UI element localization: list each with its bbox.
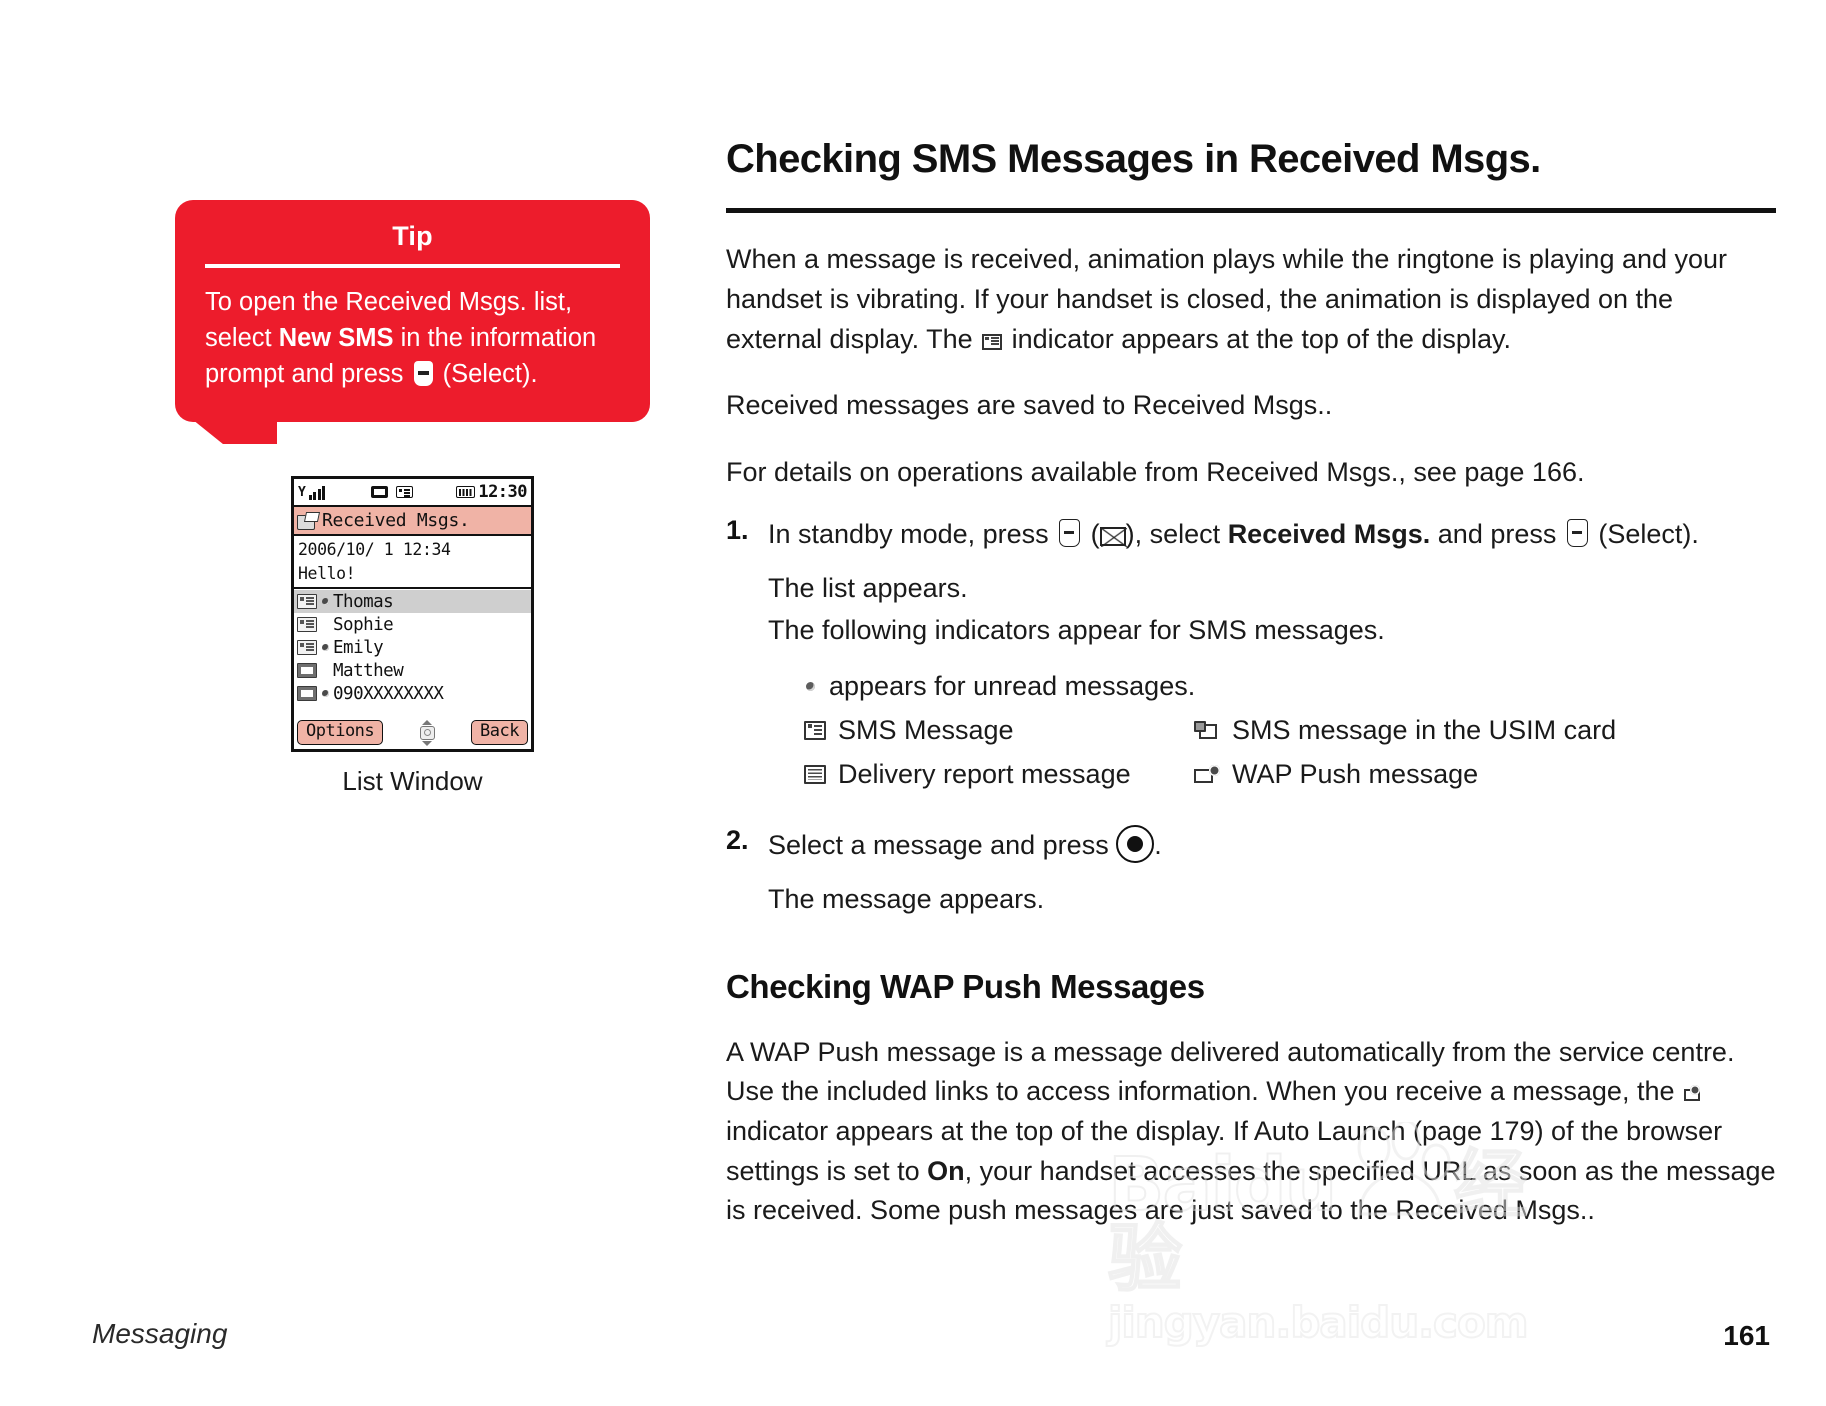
phone-message-meta: 2006/10/ 1 12:34 Hello!: [294, 536, 531, 589]
wap-text-a: A WAP Push message is a message delivere…: [726, 1037, 1734, 1107]
list-item-label: Sophie: [333, 615, 393, 635]
step-1-number: 1.: [726, 515, 768, 546]
list-item-label: Emily: [333, 638, 383, 658]
phone-screen-mockup: Y 12:30 Received Msgs. 2006/10/ 1 12:34 …: [291, 476, 534, 752]
main-content-column: Checking SMS Messages in Received Msgs. …: [726, 110, 1776, 1245]
unread-dot-icon: [804, 680, 817, 693]
tip-divider: [205, 264, 620, 268]
intro-paragraph-3: For details on operations available from…: [726, 453, 1776, 493]
step-1: 1. In standby mode, press (), select Rec…: [726, 515, 1776, 803]
list-item-label: Matthew: [333, 661, 403, 681]
sms-icon: [297, 617, 317, 632]
phone-title-label: Received Msgs.: [322, 510, 470, 531]
phone-message-preview: Hello!: [298, 562, 531, 585]
envelope-icon: [1100, 527, 1126, 546]
watermark-sub-text: jingyan.baidu.com: [1108, 1298, 1528, 1347]
step-1-text-e: (Select).: [1591, 519, 1699, 549]
wap-push-icon: [1194, 765, 1220, 784]
indicator-unread-cell: appears for unread messages.: [804, 671, 1195, 702]
usim-icon: [297, 663, 317, 678]
step-2-text-a: Select a message and press: [768, 830, 1116, 860]
list-item-label: 090XXXXXXXX: [333, 684, 443, 704]
phone-message-list[interactable]: Thomas Sophie Emily Matthew: [294, 589, 531, 705]
center-key-icon: [1116, 825, 1154, 863]
unread-dot-icon: [322, 644, 329, 651]
phone-status-bar: Y 12:30: [294, 479, 531, 507]
step-1-text-d: and press: [1430, 519, 1564, 549]
step-2: 2. Select a message and press . The mess…: [726, 825, 1776, 920]
page-title: Checking SMS Messages in Received Msgs.: [726, 137, 1776, 182]
3g-indicator-icon: [371, 486, 388, 498]
signal-strength-icon: [309, 485, 327, 500]
indicator-label: SMS Message: [838, 715, 1014, 746]
wap-push-icon: [1684, 1086, 1706, 1102]
list-item[interactable]: Sophie: [294, 613, 531, 636]
signal-y-glyph: Y: [298, 486, 306, 499]
list-item[interactable]: Thomas: [294, 590, 531, 613]
indicator-row: SMS Message SMS message in the USIM card: [804, 715, 1776, 746]
options-button[interactable]: Options: [297, 720, 383, 745]
step-2-line: Select a message and press .: [768, 825, 1776, 865]
soft-key-icon: [414, 361, 433, 386]
tip-text-part3: (Select).: [436, 360, 538, 388]
step-2-number: 2.: [726, 825, 768, 856]
sms-message-icon: [982, 334, 1002, 350]
wap-section-title: Checking WAP Push Messages: [726, 968, 1776, 1006]
indicator-label: SMS message in the USIM card: [1232, 715, 1616, 746]
back-button[interactable]: Back: [471, 720, 528, 745]
step-1-text-c: ), select: [1126, 519, 1228, 549]
phone-clock: 12:30: [478, 484, 527, 501]
navigation-key-icon[interactable]: [416, 720, 438, 746]
phone-caption: List Window: [342, 766, 482, 797]
left-sidebar-column: Tip To open the Received Msgs. list, sel…: [175, 200, 650, 797]
sms-message-icon: [804, 721, 826, 740]
soft-key-icon: [1567, 519, 1588, 547]
indicator-row-unread: appears for unread messages.: [804, 671, 1776, 702]
tip-title: Tip: [205, 222, 620, 260]
indicator-cell-left: SMS Message: [804, 715, 1194, 746]
page-number: 161: [1723, 1320, 1770, 1352]
step-1-line: In standby mode, press (), select Receiv…: [768, 515, 1776, 554]
usim-icon: [297, 686, 317, 701]
step-2-text-b: .: [1154, 830, 1162, 860]
tip-text-bold: New SMS: [279, 324, 394, 352]
tip-text: To open the Received Msgs. list, select …: [205, 284, 620, 393]
list-item[interactable]: Matthew: [294, 659, 531, 682]
wap-text-bold: On: [927, 1156, 965, 1186]
battery-icon: [456, 486, 475, 498]
step-1-sub-2: The following indicators appear for SMS …: [768, 610, 1776, 651]
list-item-label: Thomas: [333, 592, 393, 612]
phone-softkey-bar: Options Back: [294, 719, 531, 749]
usim-sms-icon: [1194, 721, 1220, 740]
soft-key-icon: [1059, 519, 1080, 547]
unread-dot-icon: [322, 690, 329, 697]
tip-callout: Tip To open the Received Msgs. list, sel…: [175, 200, 650, 422]
indicator-row: Delivery report message WAP Push message: [804, 759, 1776, 790]
step-1-text-a: In standby mode, press: [768, 519, 1056, 549]
indicator-cell-left: Delivery report message: [804, 759, 1194, 790]
wap-section-paragraph: A WAP Push message is a message delivere…: [726, 1033, 1776, 1231]
sms-indicator-icon: [396, 486, 413, 498]
delivery-report-icon: [804, 765, 826, 784]
indicator-label: Delivery report message: [838, 759, 1131, 790]
list-item[interactable]: Emily: [294, 636, 531, 659]
phone-message-date: 2006/10/ 1 12:34: [298, 538, 531, 561]
indicator-unread-label: appears for unread messages.: [829, 671, 1195, 702]
footer-chapter-label: Messaging: [92, 1318, 227, 1350]
intro-paragraph-1: When a message is received, animation pl…: [726, 240, 1776, 359]
step-1-body: In standby mode, press (), select Receiv…: [768, 515, 1776, 803]
step-1-text-b: (: [1083, 519, 1100, 549]
step-2-body: Select a message and press . The message…: [768, 825, 1776, 920]
indicator-cell-right: WAP Push message: [1194, 759, 1478, 790]
phone-title-bar: Received Msgs.: [294, 507, 531, 536]
step-2-sub-1: The message appears.: [768, 879, 1776, 920]
sms-icon: [297, 640, 317, 655]
title-divider: [726, 208, 1776, 213]
step-1-sub-1: The list appears.: [768, 568, 1776, 609]
indicator-label: WAP Push message: [1232, 759, 1478, 790]
intro-paragraph-2: Received messages are saved to Received …: [726, 386, 1776, 426]
indicator-legend: appears for unread messages. SMS Message…: [804, 671, 1776, 790]
list-item[interactable]: 090XXXXXXXX: [294, 682, 531, 705]
received-folder-icon: [297, 512, 318, 529]
indicator-cell-right: SMS message in the USIM card: [1194, 715, 1616, 746]
sms-icon: [297, 594, 317, 609]
intro-p1-part-b: indicator appears at the top of the disp…: [1004, 324, 1511, 354]
step-1-text-bold: Received Msgs.: [1228, 519, 1431, 549]
unread-dot-icon: [322, 598, 329, 605]
phone-mockup-wrapper: Y 12:30 Received Msgs. 2006/10/ 1 12:34 …: [175, 476, 650, 797]
